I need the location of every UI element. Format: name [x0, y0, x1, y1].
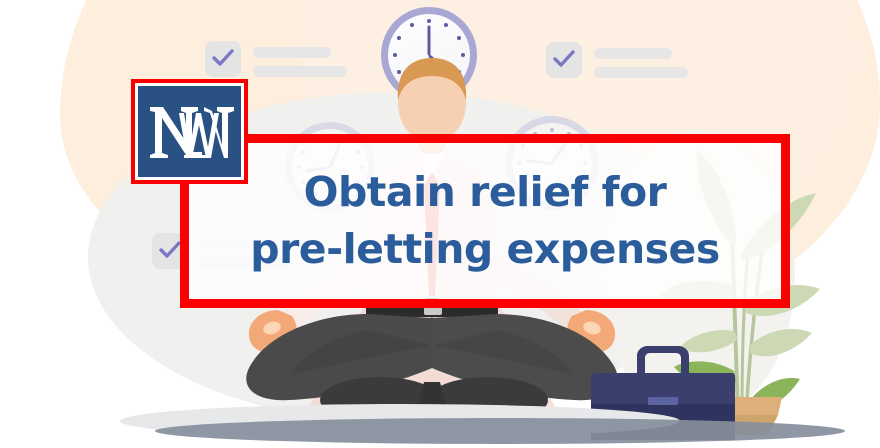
headline-line-1: Obtain relief for	[304, 164, 667, 221]
briefcase-clasp	[648, 397, 678, 405]
banner-image: Obtain relief for pre-letting expenses	[0, 0, 880, 448]
company-logo[interactable]	[131, 79, 248, 184]
headline-banner: Obtain relief for pre-letting expenses	[180, 134, 790, 308]
briefcase-handle	[637, 346, 689, 374]
logo-square	[138, 86, 241, 177]
mw-monogram-icon	[144, 97, 236, 167]
ground-shadow	[155, 418, 845, 444]
headline-line-2: pre-letting expenses	[250, 221, 720, 278]
